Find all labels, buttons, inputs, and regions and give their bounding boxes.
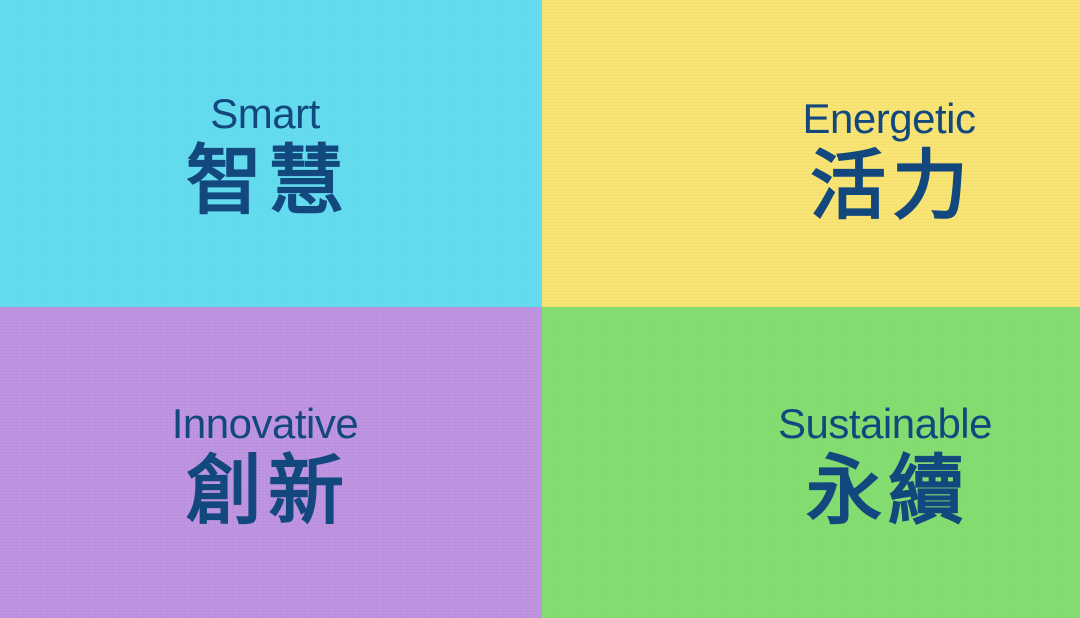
quadrant-smart-english-label: Smart — [210, 93, 320, 135]
quadrant-energetic-english-label: Energetic — [803, 98, 976, 140]
quadrant-smart: Smart 智慧 — [0, 0, 542, 307]
quadrant-innovative-chinese-label: 創新 — [180, 453, 350, 529]
quadrant-energetic: Energetic 活力 — [542, 0, 1080, 307]
label-stack-sustainable: Sustainable 永續 — [778, 403, 992, 529]
label-stack-innovative: Innovative 創新 — [172, 403, 358, 529]
quadrant-innovative-english-label: Innovative — [172, 403, 358, 445]
quadrant-sustainable-chinese-label: 永續 — [800, 453, 970, 529]
quadrant-smart-chinese-label: 智慧 — [180, 143, 350, 219]
quadrant-sustainable: Sustainable 永續 — [542, 307, 1080, 618]
label-stack-smart: Smart 智慧 — [180, 93, 350, 219]
quadrant-innovative: Innovative 創新 — [0, 307, 542, 618]
quadrant-energetic-chinese-label: 活力 — [804, 148, 974, 224]
quadrant-sustainable-english-label: Sustainable — [778, 403, 992, 445]
brand-values-board: Smart 智慧 Energetic 活力 Innovative 創新 Sust… — [0, 0, 1080, 618]
label-stack-energetic: Energetic 活力 — [803, 98, 976, 224]
